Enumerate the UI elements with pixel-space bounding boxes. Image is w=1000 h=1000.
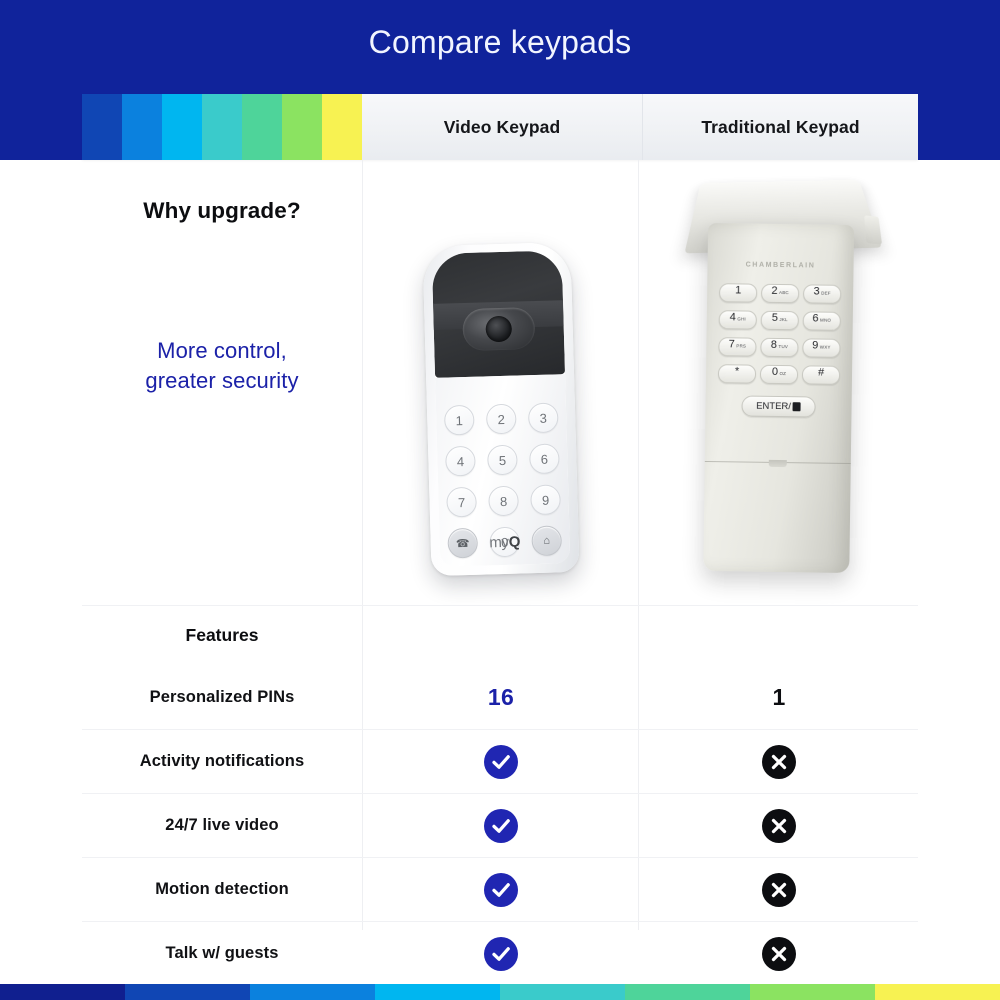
swatch-3 (202, 94, 242, 160)
feature-label-cell: Personalized PINs (82, 665, 362, 729)
traditional-keypad-key-#: # (802, 365, 840, 385)
key-digit: 4 (730, 311, 736, 323)
column-header-video-keypad: Video Keypad (362, 94, 642, 160)
key-letters: GHI (737, 316, 746, 321)
feature-label: Talk w/ guests (166, 944, 279, 963)
footer-band-4 (500, 984, 625, 1000)
check-icon (484, 745, 518, 779)
comparison-infographic: Compare keypads Video Keypad Traditional… (0, 0, 1000, 1000)
myq-logo: myQ (489, 533, 520, 551)
swatch-4 (242, 94, 282, 160)
video-keypad-keypad-panel: 123456789☎0⌂ myQ (435, 374, 570, 567)
feature-label-cell: Motion detection (82, 858, 362, 921)
camera-lens-icon (462, 307, 535, 351)
key-letters: OZ (779, 371, 786, 376)
hero-tagline-line1: More control, (145, 336, 298, 366)
video-keypad-key-8: 8 (488, 485, 519, 516)
color-swatch-bar (82, 94, 362, 160)
feature-label-cell: Talk w/ guests (82, 922, 362, 985)
traditional-value-cell (640, 858, 918, 921)
column-header-traditional-keypad: Traditional Keypad (642, 94, 918, 160)
traditional-keypad-key-1: 1 (719, 283, 757, 303)
cross-icon (762, 937, 796, 971)
traditional-keypad-image-cell: CHAMBERLAIN 12ABC3DEF4GHI5JKL6MNO7PRS8TU… (640, 160, 918, 605)
key-letters: TUV (778, 343, 788, 348)
video-keypad-call-icon: ☎ (447, 527, 478, 558)
footer-gradient-bar (0, 984, 1000, 1000)
swatch-0 (82, 94, 122, 160)
footer-band-0 (0, 984, 125, 1000)
traditional-keypad-product-image: CHAMBERLAIN 12ABC3DEF4GHI5JKL6MNO7PRS8TU… (703, 165, 855, 587)
key-digit: 2 (771, 284, 777, 296)
key-digit: 8 (771, 338, 777, 350)
video-keypad-key-3: 3 (528, 402, 559, 433)
key-digit: 9 (812, 339, 818, 351)
traditional-value-cell (640, 794, 918, 857)
video-keypad-key-2: 2 (486, 403, 517, 434)
video-value-cell (362, 794, 640, 857)
check-icon (484, 937, 518, 971)
features-title-cell: Features (82, 606, 362, 665)
table-row: 24/7 live video (82, 793, 918, 857)
footer-band-3 (375, 984, 500, 1000)
video-value-cell: 16 (362, 665, 640, 729)
table-row: Personalized PINs161 (82, 665, 918, 729)
video-keypad-key-9: 9 (530, 484, 561, 515)
video-keypad-garage-icon: ⌂ (531, 525, 562, 556)
video-value-cell (362, 730, 640, 793)
hero-row: Why upgrade? More control, greater secur… (82, 160, 918, 605)
video-keypad-key-4: 4 (445, 445, 476, 476)
check-icon (484, 873, 518, 907)
hero-text-cell: Why upgrade? More control, greater secur… (82, 160, 362, 605)
table-row: Activity notifications (82, 729, 918, 793)
key-letters: WXY (820, 344, 831, 349)
footer-band-5 (625, 984, 750, 1000)
hero-tagline-line2: greater security (145, 366, 298, 396)
traditional-keypad-keys: 12ABC3DEF4GHI5JKL6MNO7PRS8TUV9WXY*0OZ# (718, 283, 841, 385)
features-header-row: Features (82, 605, 918, 665)
key-letters: MNO (820, 317, 831, 322)
key-digit: 7 (729, 338, 735, 350)
feature-label-cell: Activity notifications (82, 730, 362, 793)
features-header-traditional-cell (640, 606, 918, 665)
video-value-cell (362, 858, 640, 921)
video-keypad-product-image: 123456789☎0⌂ myQ (422, 241, 579, 575)
traditional-keypad-key-6: 6MNO (803, 311, 841, 331)
traditional-keypad-key-7: 7PRS (718, 337, 756, 357)
traditional-keypad-key-*: * (718, 364, 756, 384)
video-keypad-key-6: 6 (529, 443, 560, 474)
key-digit: 6 (812, 312, 818, 324)
enter-key: ENTER/ (741, 395, 815, 417)
video-keypad-key-5: 5 (487, 444, 518, 475)
check-icon (484, 809, 518, 843)
traditional-keypad-key-9: 9WXY (802, 338, 840, 358)
traditional-keypad-key-0: 0OZ (760, 364, 798, 384)
footer-band-7 (875, 984, 1000, 1000)
swatch-6 (322, 94, 362, 160)
traditional-value-cell: 1 (640, 665, 918, 729)
footer-band-6 (750, 984, 875, 1000)
feature-label: Personalized PINs (150, 688, 295, 707)
cross-icon (762, 873, 796, 907)
traditional-value: 1 (772, 684, 785, 711)
key-digit: 3 (813, 285, 819, 297)
video-keypad-face: 123456789☎0⌂ myQ (432, 250, 571, 567)
key-digit: * (735, 365, 739, 377)
footer-band-1 (125, 984, 250, 1000)
key-digit: # (818, 366, 824, 378)
traditional-value-cell (640, 922, 918, 985)
comparison-table: Why upgrade? More control, greater secur… (82, 160, 918, 985)
table-row: Motion detection (82, 857, 918, 921)
swatch-1 (122, 94, 162, 160)
feature-label-cell: 24/7 live video (82, 794, 362, 857)
battery-notch (769, 459, 787, 466)
swatch-5 (282, 94, 322, 160)
feature-rows: Personalized PINs161Activity notificatio… (82, 665, 918, 985)
hero-tagline: More control, greater security (145, 336, 298, 396)
table-header-card: Video Keypad Traditional Keypad (82, 94, 918, 160)
traditional-keypad-key-3: 3DEF (803, 284, 841, 304)
cross-icon (762, 809, 796, 843)
feature-label: Motion detection (155, 880, 289, 899)
enter-key-label: ENTER/ (756, 400, 791, 411)
key-digit: 5 (772, 311, 778, 323)
video-keypad-image-cell: 123456789☎0⌂ myQ (362, 160, 640, 605)
hero-heading: Why upgrade? (143, 198, 300, 224)
traditional-keypad-key-4: 4GHI (719, 310, 757, 330)
traditional-value-cell (640, 730, 918, 793)
key-digit: 0 (772, 365, 778, 377)
page-title: Compare keypads (0, 24, 1000, 61)
key-letters: ABC (779, 289, 789, 294)
door-icon (793, 402, 801, 411)
cross-icon (762, 745, 796, 779)
table-row: Talk w/ guests (82, 921, 918, 985)
chamberlain-logo: CHAMBERLAIN (746, 261, 816, 269)
traditional-keypad-key-8: 8TUV (760, 337, 798, 357)
key-letters: PRS (736, 343, 746, 348)
swatch-2 (162, 94, 202, 160)
keypad-lid-edge (864, 215, 882, 244)
video-value-cell (362, 922, 640, 985)
video-keypad-camera-housing (432, 250, 565, 378)
feature-label: 24/7 live video (165, 816, 278, 835)
features-title: Features (186, 625, 259, 646)
video-value: 16 (488, 684, 514, 711)
video-keypad-key-7: 7 (446, 486, 477, 517)
key-letters: DEF (821, 290, 831, 295)
key-digit: 1 (735, 284, 741, 296)
footer-band-2 (250, 984, 375, 1000)
features-header-video-cell (362, 606, 640, 665)
key-letters: JKL (779, 317, 787, 322)
traditional-keypad-key-2: 2ABC (761, 283, 799, 303)
video-keypad-key-1: 1 (444, 404, 475, 435)
feature-label: Activity notifications (140, 752, 304, 771)
traditional-keypad-key-5: 5JKL (761, 310, 799, 330)
traditional-keypad-body: CHAMBERLAIN 12ABC3DEF4GHI5JKL6MNO7PRS8TU… (703, 222, 854, 572)
